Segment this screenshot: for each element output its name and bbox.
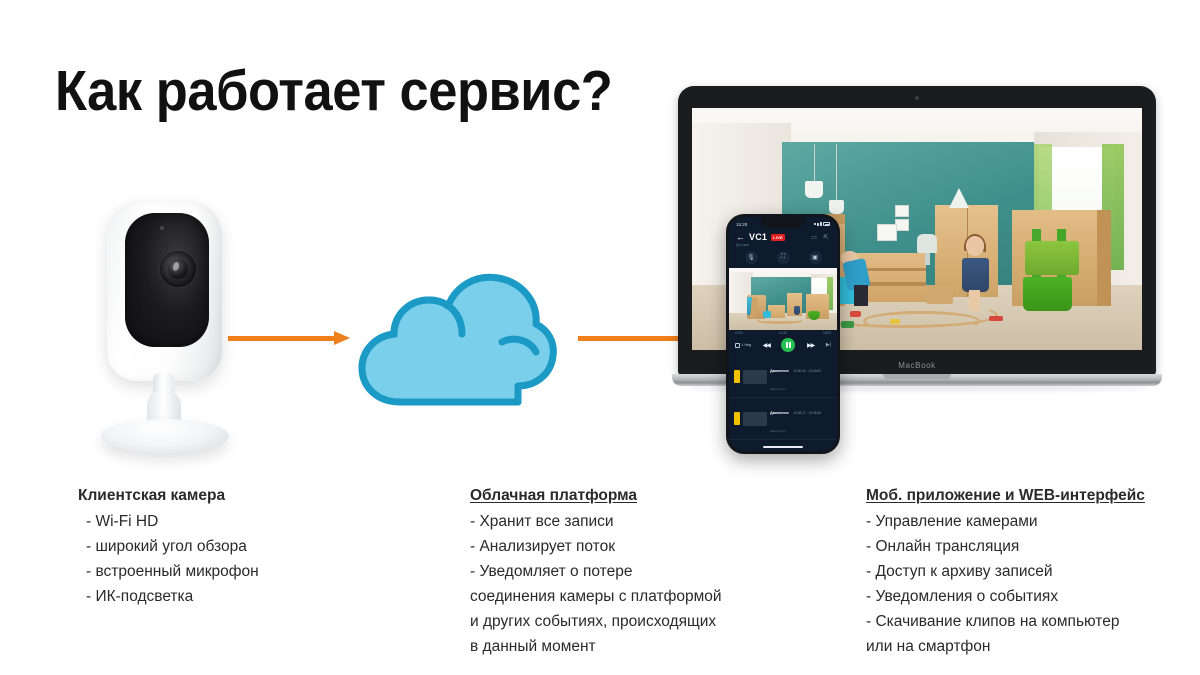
event-time: 13:30:32 - 13:30:51 [793,369,821,373]
rewind-button[interactable]: ◀◀ [763,342,770,349]
battery-icon [823,222,830,226]
list-item[interactable]: Движение 12:45:17 - 12:45:46 Камера VC1 [729,398,837,440]
phone-mockup: 15:28 ← VC1 LIVE ▭ ⇱ Детская 🎙 ⛶ [726,214,840,454]
jump-to-live-button[interactable]: ▶| [826,342,831,348]
event-time: 12:45:17 - 12:45:46 [793,411,821,415]
cloud-svg [352,264,562,414]
green-bed-pouch [1025,241,1079,275]
back-icon[interactable]: ← [736,233,745,242]
fullscreen-button[interactable]: ⛶ [777,251,790,264]
phone-control-row: 🎙 ⛶ ▣ [729,249,837,268]
caption-item: - Уведомляет о потере [470,559,760,584]
arrow-shaft [228,336,336,341]
event-source: Камера VC1 [770,387,786,391]
caption-heading: Облачная платформа [470,483,760,508]
caption-item: - Анализирует поток [470,534,760,559]
phone-notch [761,217,805,228]
wall-frame-1 [895,205,909,217]
child-girl-dress [794,306,800,315]
slide-canvas: Как работает сервис? [0,0,1200,675]
wall-frame-3 [877,224,897,241]
live-badge: LIVE [771,234,785,241]
caption-item: и других событиях, происходящих [470,609,760,634]
event-color-bar [734,412,740,425]
camera-microphone-pinhole [160,226,164,230]
wooden-crate [926,285,953,304]
caption-item: или на смартфон [866,634,1166,659]
event-text: Движение 13:30:32 - 13:30:51 Камера VC1 [770,359,832,395]
toy-red-1 [850,311,861,317]
camera-name-label: VC1 [749,232,767,242]
client-camera-illustration [85,195,315,465]
event-source: Камера VC1 [770,429,786,433]
arrow-head [334,331,350,345]
pause-bar-right [789,342,791,348]
caption-item: - Скачивание клипов на компьютер [866,609,1166,634]
event-title: Движение [770,411,789,415]
pendant-cord-1 [814,144,815,183]
calendar-icon [735,343,740,348]
caption-item: - Доступ к архиву записей [866,559,1166,584]
wifi-icon [820,222,822,226]
toy-green-2 [841,321,855,328]
caption-client-camera: Клиентская камера - Wi-Fi HD - широкий у… [78,483,259,609]
phone-event-list[interactable]: Движение 13:30:32 - 13:30:51 Камера VC1 … [729,356,837,451]
caption-item: - ИК-подсветка [78,584,259,609]
pendant-cord-2 [836,144,837,202]
laptop-base-notch [883,374,951,379]
cloud-platform-icon [352,264,562,414]
caption-item: - Уведомления о событиях [866,584,1166,609]
table-lamp-shade [917,234,937,253]
snapshot-button[interactable]: ▣ [809,251,822,264]
caption-item: - широкий угол обзора [78,534,259,559]
arrow-camera-to-cloud [228,334,350,342]
event-thumbnail [743,370,767,384]
status-icon-group [814,222,830,226]
caption-cloud-platform: Облачная платформа - Хранит все записи -… [470,483,760,659]
phone-feed-room-scene [729,268,837,330]
event-text: Движение 12:45:17 - 12:45:46 Камера VC1 [770,401,832,437]
toy-car-red [989,316,1003,321]
green-storage-bin [1023,277,1073,311]
laptop-webcam-icon [915,96,919,100]
phone-live-view[interactable] [729,268,837,330]
forward-button[interactable]: ▶▶ [807,342,814,349]
caption-mobile-app: Моб. приложение и WEB-интерфейс - Управл… [866,483,1166,659]
event-thumbnail [743,412,767,426]
pause-button[interactable] [781,338,795,352]
table-lamp-stem [925,253,930,265]
phone-screen: 15:28 ← VC1 LIVE ▭ ⇱ Детская 🎙 ⛶ [729,217,837,451]
caption-item: в данный момент [470,634,760,659]
child-girl-head [966,236,985,255]
status-time: 15:28 [736,222,747,227]
child-girl-dress [962,258,989,292]
caption-item: - Онлайн трансляция [866,534,1166,559]
date-range-chip[interactable]: 1 Нед [735,343,751,348]
pendant-lamp-2 [829,200,844,215]
toy-yellow-1 [890,319,900,324]
share-icon[interactable]: ⇱ [822,233,830,241]
signal-icon [817,223,819,226]
caption-item: - Хранит все записи [470,509,760,534]
caption-heading: Клиентская камера [78,483,259,508]
bunk-bed-right-post [1097,210,1111,307]
tree-decoration [949,188,969,208]
cast-icon[interactable]: ▭ [810,233,818,241]
caption-item: - Управление камерами [866,509,1166,534]
arrow-shaft [578,336,684,341]
page-title: Как работает сервис? [55,58,612,124]
pendant-lamp-1 [805,181,823,198]
phone-player-controls: 1 Нед ◀◀ ▶▶ ▶| [729,335,837,356]
date-range-label: 1 Нед [742,343,752,347]
pause-bar-left [786,342,788,348]
signal-icon [814,223,816,225]
mic-button[interactable]: 🎙 [745,251,758,264]
event-title: Движение [770,369,789,373]
caption-item: - встроенный микрофон [78,559,259,584]
list-item[interactable]: Движение 13:30:32 - 13:30:51 Камера VC1 [729,356,837,398]
camera-stand-base [101,419,229,453]
event-color-bar [734,370,740,383]
caption-item: - Wi-Fi HD [78,509,259,534]
home-indicator [763,446,803,448]
toy-train-track-2 [863,311,980,330]
phone-app-header: ← VC1 LIVE ▭ ⇱ [729,229,837,243]
caption-item: соединения камеры с платформой [470,584,760,609]
caption-heading: Моб. приложение и WEB-интерфейс [866,483,1166,508]
